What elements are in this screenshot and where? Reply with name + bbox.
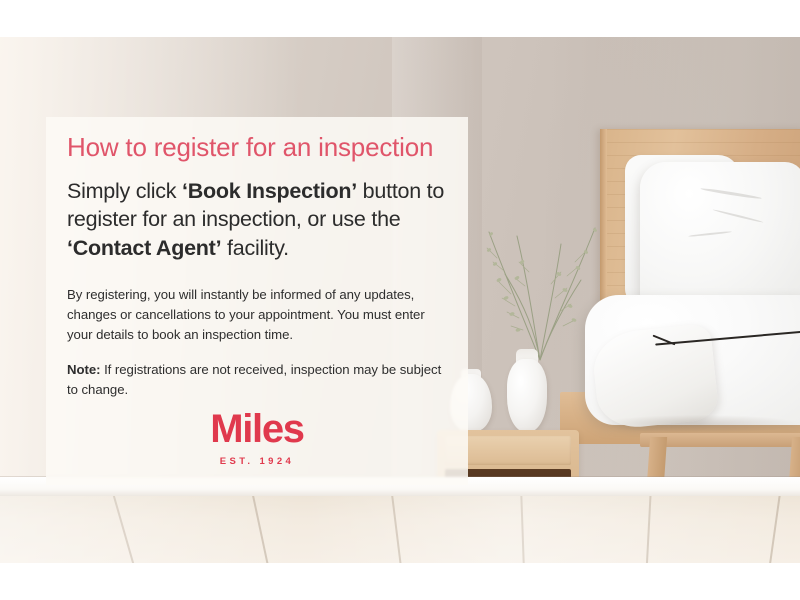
wooden-floor (0, 496, 800, 563)
bedroom-scene-photo: How to register for an inspection Simply… (0, 37, 800, 563)
page-title: How to register for an inspection (67, 133, 457, 163)
contact-agent-emphasis: ‘Contact Agent’ (67, 236, 221, 260)
logo-wordmark: Miles (46, 409, 468, 449)
note-paragraph: Note: If registrations are not received,… (67, 360, 449, 400)
note-label: Note: (67, 362, 100, 377)
banner-stage: How to register for an inspection Simply… (0, 0, 800, 600)
brand-logo: Miles EST. 1924 (46, 409, 468, 467)
instruction-part-1: Simply click (67, 179, 182, 203)
instruction-text: Simply click ‘Book Inspection’ button to… (67, 177, 459, 262)
vase-tall (507, 359, 547, 432)
floor-sheen (0, 496, 800, 563)
letterbox-top (0, 0, 800, 37)
duvet-shadow (600, 415, 800, 433)
note-body: If registrations are not received, inspe… (67, 362, 441, 397)
letterbox-bottom (0, 563, 800, 600)
instruction-part-3: facility. (221, 236, 289, 260)
book-inspection-emphasis: ‘Book Inspection’ (182, 179, 357, 203)
registration-info-paragraph: By registering, you will instantly be in… (67, 285, 449, 345)
info-panel: How to register for an inspection Simply… (46, 117, 468, 485)
details-text: By registering, you will instantly be in… (67, 285, 449, 400)
logo-established-year: EST. 1924 (46, 456, 468, 467)
